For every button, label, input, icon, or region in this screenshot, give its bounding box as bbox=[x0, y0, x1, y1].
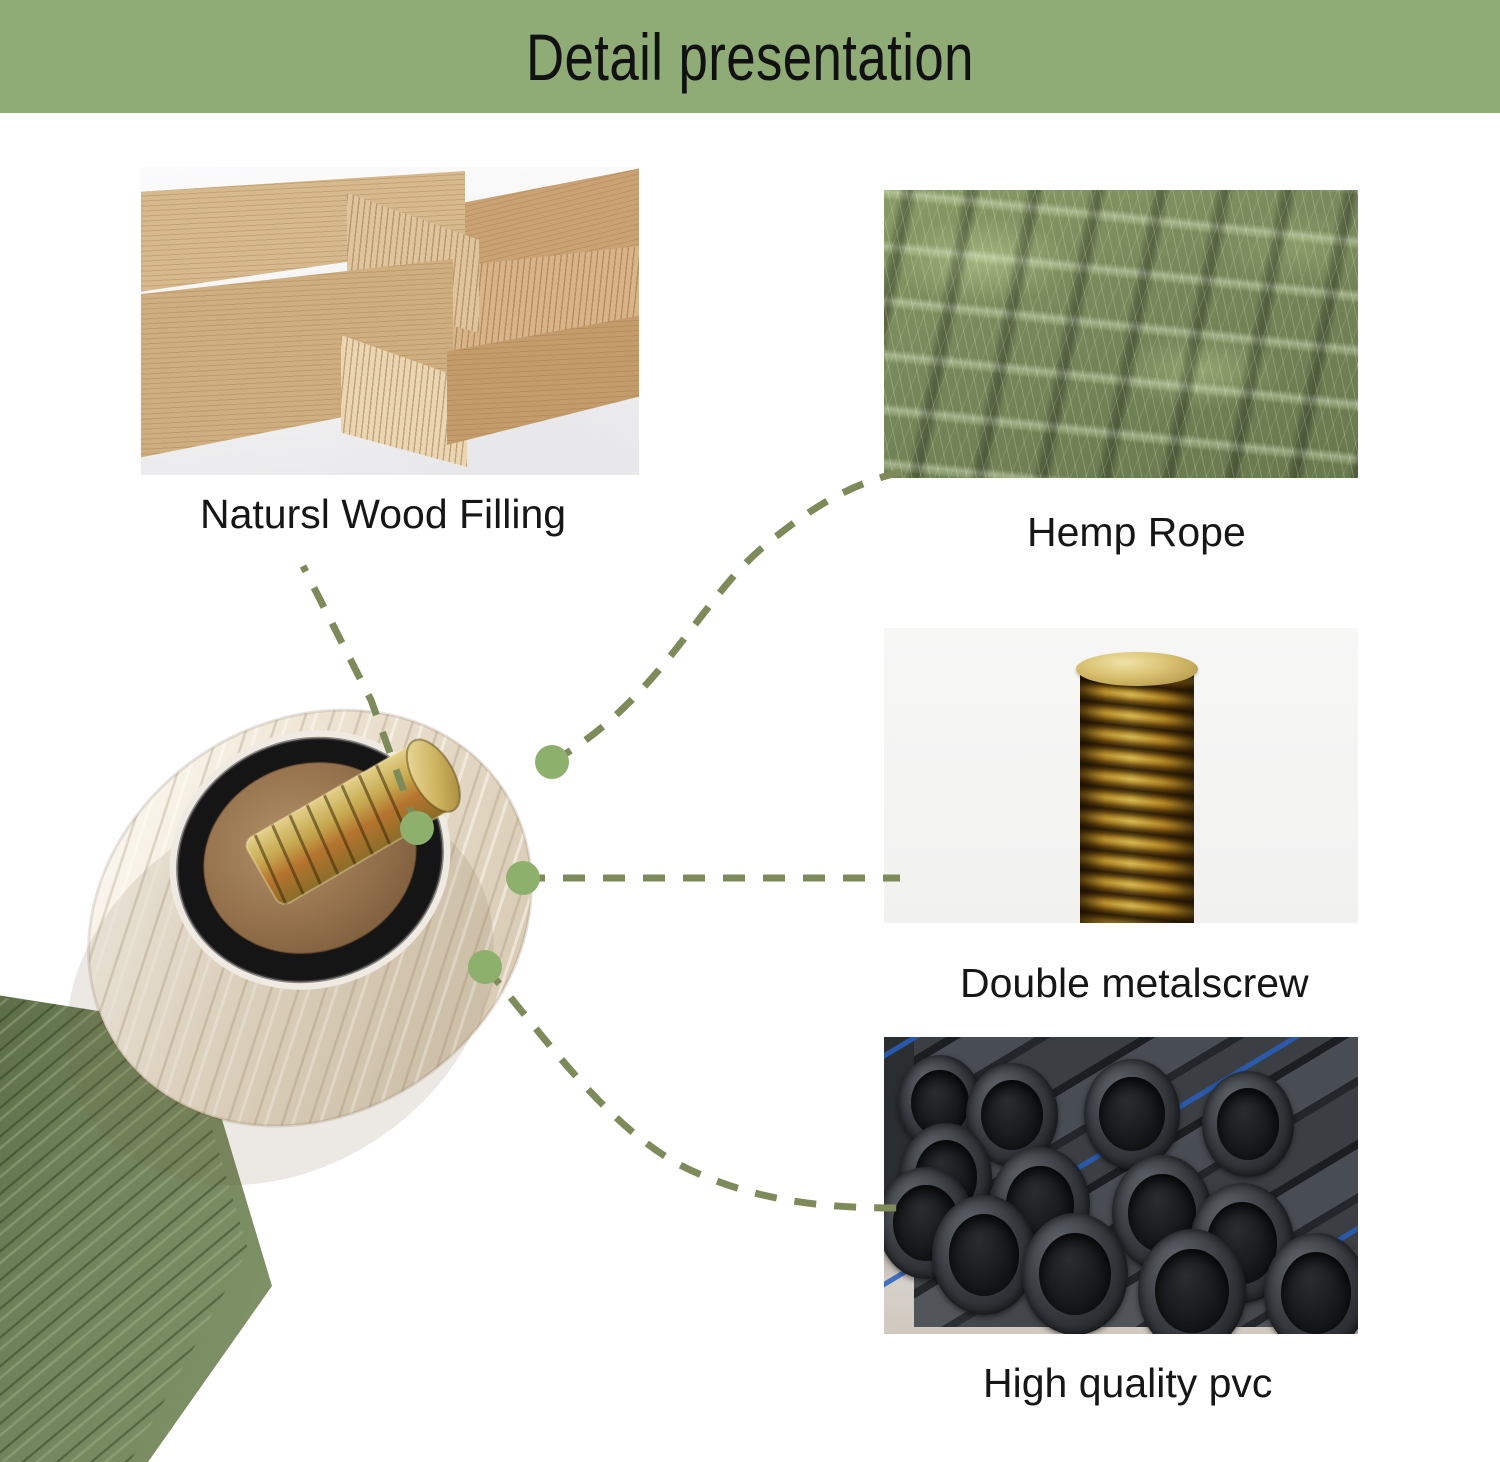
cat-scratching-post-end-closeup bbox=[0, 690, 680, 1462]
callout-dot-screw[interactable] bbox=[506, 861, 540, 895]
screw-threaded-shaft bbox=[1080, 670, 1194, 923]
caption-wood: Natursl Wood Filling bbox=[200, 494, 566, 535]
callout-dot-wood[interactable] bbox=[400, 811, 434, 845]
hemp-rope-stray-fibers bbox=[884, 190, 1358, 478]
page-title: Detail presentation bbox=[526, 24, 974, 90]
header-banner: Detail presentation bbox=[0, 0, 1500, 113]
wood-beam-step bbox=[447, 315, 639, 445]
caption-rope: Hemp Rope bbox=[1027, 512, 1246, 553]
product-photo-svg bbox=[0, 690, 680, 1462]
pvc-pipe-opening bbox=[1022, 1213, 1128, 1334]
detail-presentation-infographic: Detail presentation bbox=[0, 0, 1500, 1462]
caption-pvc: High quality pvc bbox=[983, 1363, 1272, 1404]
callout-dot-rope[interactable] bbox=[535, 745, 569, 779]
callout-dot-pvc[interactable] bbox=[468, 950, 502, 984]
pvc-pipe-opening bbox=[1202, 1071, 1294, 1177]
hemp-rope-photo bbox=[884, 190, 1358, 478]
screw-head-top bbox=[1076, 652, 1198, 686]
wood-beams-photo bbox=[141, 167, 639, 475]
caption-screw: Double metalscrew bbox=[960, 963, 1309, 1004]
metal-screw-photo bbox=[884, 628, 1358, 923]
pvc-pipe-opening bbox=[1084, 1059, 1180, 1169]
pvc-pipes-photo bbox=[884, 1037, 1358, 1334]
pvc-pipe-opening bbox=[932, 1195, 1036, 1315]
